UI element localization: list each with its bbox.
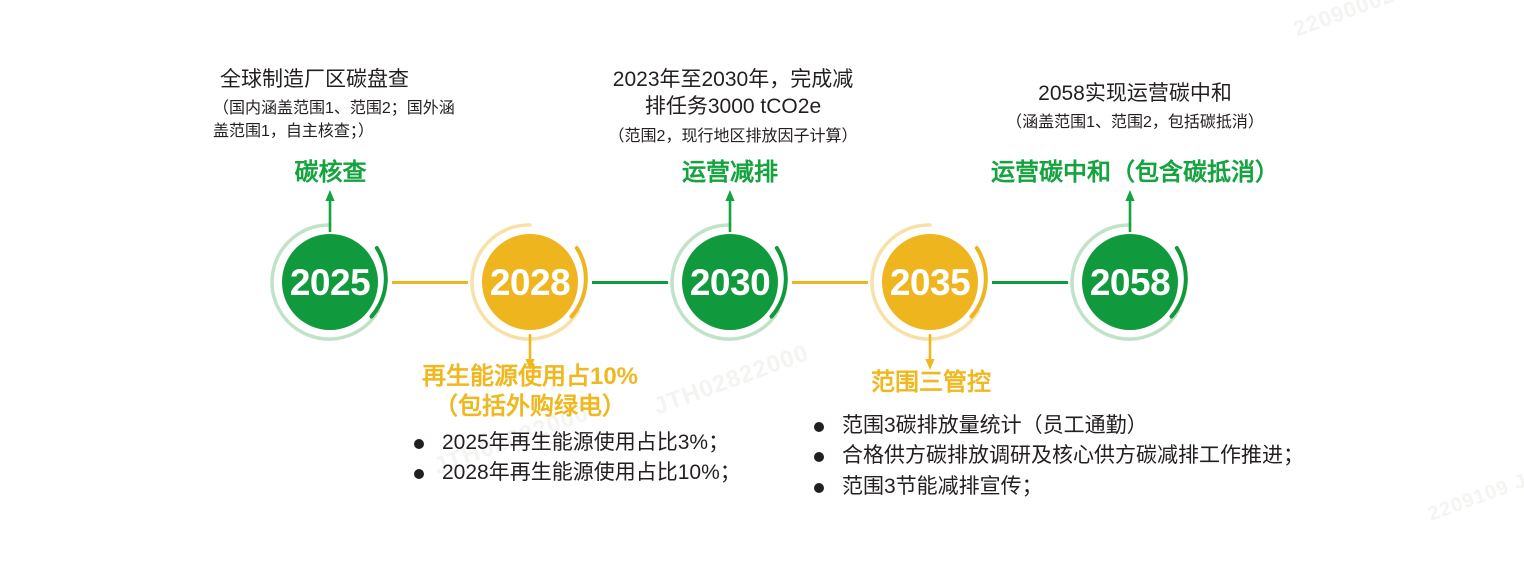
label-2058: 运营碳中和（包含碳抵消） <box>985 158 1285 188</box>
milestone-disc: 2058 <box>1082 234 1178 330</box>
scope3-list: 范围3碳排放量统计（员工通勤） 合格供方碳排放调研及核心供方碳减排工作推进； 范… <box>808 411 1304 502</box>
milestone-year: 2058 <box>1090 264 1170 301</box>
list-item: 2025年再生能源使用占比3%； <box>408 428 741 458</box>
label-2025: 碳核查 <box>253 158 408 188</box>
milestone-disc: 2028 <box>482 234 578 330</box>
arrow-up-2025 <box>320 190 340 232</box>
header-subtitle: （范围2，现行地区排放因子计算） <box>578 125 888 148</box>
milestone-disc: 2025 <box>282 234 378 330</box>
label-2035: 范围三管控 <box>855 368 1007 398</box>
list-item: 合格供方碳排放调研及核心供方碳减排工作推进； <box>808 441 1304 471</box>
infographic-canvas: JTH02822000 22090002 JTH02822000 2209109… <box>0 0 1524 568</box>
milestone-disc: 2030 <box>682 234 778 330</box>
milestone-2035[interactable]: 2035 <box>868 220 992 344</box>
arrow-up-2030 <box>720 190 740 232</box>
list-item: 2028年再生能源使用占比10%； <box>408 458 741 488</box>
watermark-2: 22090002 <box>1290 0 1398 42</box>
milestone-2030[interactable]: 2030 <box>668 220 792 344</box>
milestone-year: 2030 <box>690 264 770 301</box>
milestone-year: 2028 <box>490 264 570 301</box>
label-2030: 运营减排 <box>655 158 805 188</box>
header-operation-reduction: 2023年至2030年，完成减 排任务3000 tCO2e （范围2，现行地区排… <box>578 66 888 148</box>
list-item: 范围3节能减排宣传； <box>808 472 1304 502</box>
watermark-1: JTH02822000 <box>650 339 813 421</box>
header-title: 2058实现运营碳中和 <box>985 80 1285 107</box>
header-subtitle: （国内涵盖范围1、范围2；国外涵 盖范围1，自主核查；） <box>205 97 505 143</box>
arrow-up-2058 <box>1120 190 1140 232</box>
milestone-year: 2035 <box>890 264 970 301</box>
milestone-disc: 2035 <box>882 234 978 330</box>
header-title: 全球制造厂区碳盘查 <box>205 66 505 93</box>
milestone-year: 2025 <box>290 264 370 301</box>
arrow-down-2035 <box>920 334 940 370</box>
renewable-energy-list: 2025年再生能源使用占比3%； 2028年再生能源使用占比10%； <box>408 428 741 489</box>
list-item: 范围3碳排放量统计（员工通勤） <box>808 411 1304 441</box>
milestone-2025[interactable]: 2025 <box>268 220 392 344</box>
header-title: 2023年至2030年，完成减 排任务3000 tCO2e <box>578 66 888 121</box>
header-carbon-inventory: 全球制造厂区碳盘查 （国内涵盖范围1、范围2；国外涵 盖范围1，自主核查；） <box>205 66 505 144</box>
milestone-2058[interactable]: 2058 <box>1068 220 1192 344</box>
milestone-2028[interactable]: 2028 <box>468 220 592 344</box>
watermark-4: 2209109 JT <box>1425 465 1524 527</box>
header-carbon-neutral: 2058实现运营碳中和 （涵盖范围1、范围2，包括碳抵消） <box>985 80 1285 134</box>
label-2028: 再生能源使用占10% （包括外购绿电） <box>405 362 655 422</box>
header-subtitle: （涵盖范围1、范围2，包括碳抵消） <box>985 111 1285 134</box>
